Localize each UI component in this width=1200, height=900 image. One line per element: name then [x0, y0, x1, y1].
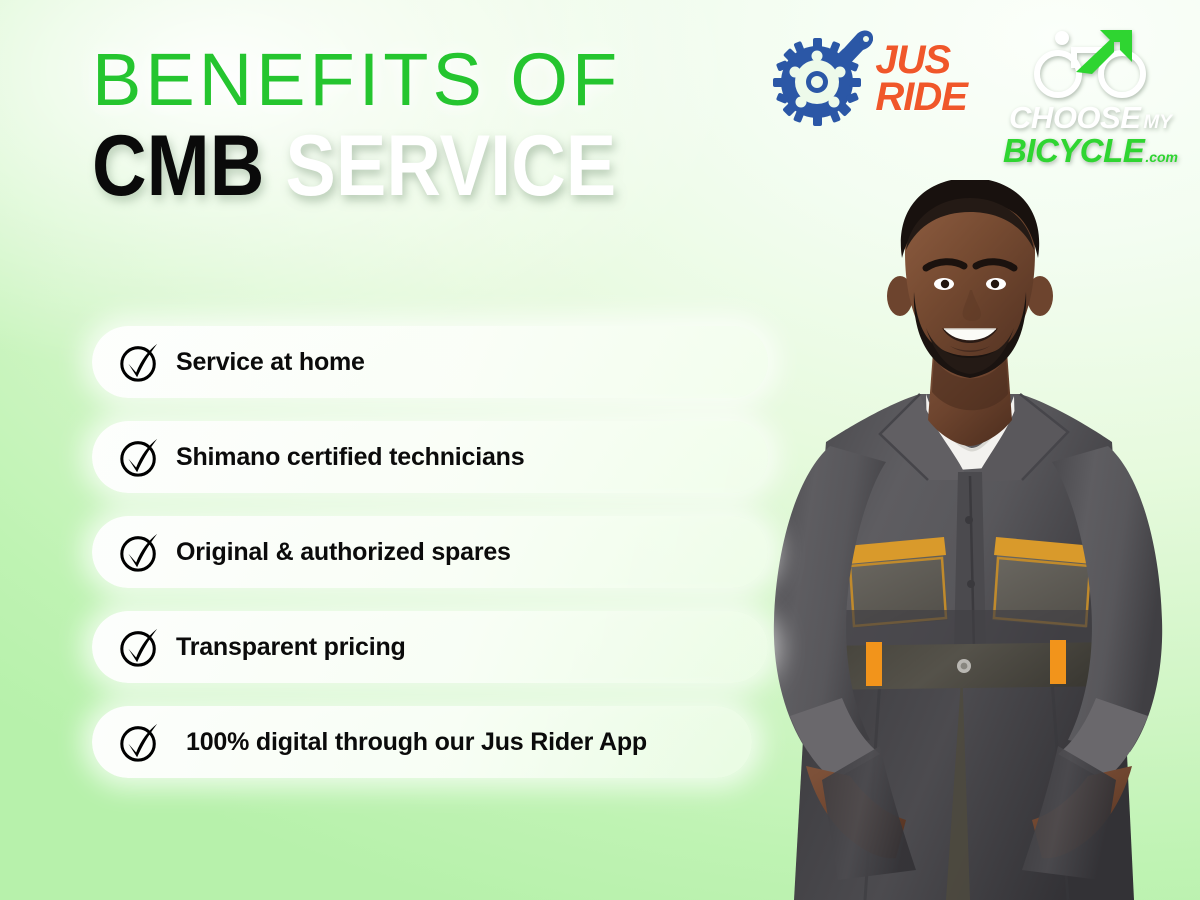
headline-service: SERVICE: [285, 118, 616, 214]
headline-cmb: CMB: [92, 118, 264, 214]
list-item[interactable]: Original & authorized spares: [92, 516, 768, 588]
check-circle-icon: [118, 531, 160, 573]
list-item-label: Service at home: [176, 348, 365, 377]
chainring-crank-icon: [771, 26, 875, 130]
headline-line-2: CMB SERVICE: [92, 124, 655, 208]
jus-ride-word-top: JUS: [875, 42, 967, 79]
cmb-word-dotcom: .com: [1145, 150, 1178, 164]
check-circle-icon: [118, 721, 160, 763]
cmb-wordmark: CHOOSE MY BICYCLE .com: [1003, 102, 1178, 167]
logo-jus-ride[interactable]: JUS RIDE: [771, 26, 967, 130]
poster-canvas: BENEFITS OF CMB SERVICE: [0, 0, 1200, 900]
cmb-word-my: MY: [1143, 113, 1172, 132]
benefits-list: Service at home Shimano certified techni…: [92, 326, 782, 801]
list-item[interactable]: Service at home: [92, 326, 768, 398]
list-item-label: Original & authorized spares: [176, 538, 511, 567]
jus-ride-word-bottom: RIDE: [875, 79, 967, 116]
check-circle-icon: [118, 341, 160, 383]
bicycle-arrow-icon: [1028, 28, 1152, 100]
check-circle-icon: [118, 626, 160, 668]
list-item[interactable]: Shimano certified technicians: [92, 421, 768, 493]
logo-choose-my-bicycle[interactable]: CHOOSE MY BICYCLE .com: [1003, 28, 1178, 167]
list-item-label: 100% digital through our Jus Rider App: [186, 728, 647, 757]
cmb-word-choose: CHOOSE: [1009, 102, 1140, 133]
page-title: BENEFITS OF CMB SERVICE: [92, 44, 732, 208]
cmb-word-bicycle: BICYCLE: [1003, 134, 1144, 167]
list-item[interactable]: 100% digital through our Jus Rider App: [92, 706, 752, 778]
jus-ride-wordmark: JUS RIDE: [875, 42, 967, 116]
headline-line-1: BENEFITS OF: [92, 44, 732, 116]
list-item-label: Shimano certified technicians: [176, 443, 524, 472]
list-item-label: Transparent pricing: [176, 633, 406, 662]
check-circle-icon: [118, 436, 160, 478]
logo-group: JUS RIDE CHOOSE MY: [771, 26, 1178, 167]
list-item[interactable]: Transparent pricing: [92, 611, 768, 683]
